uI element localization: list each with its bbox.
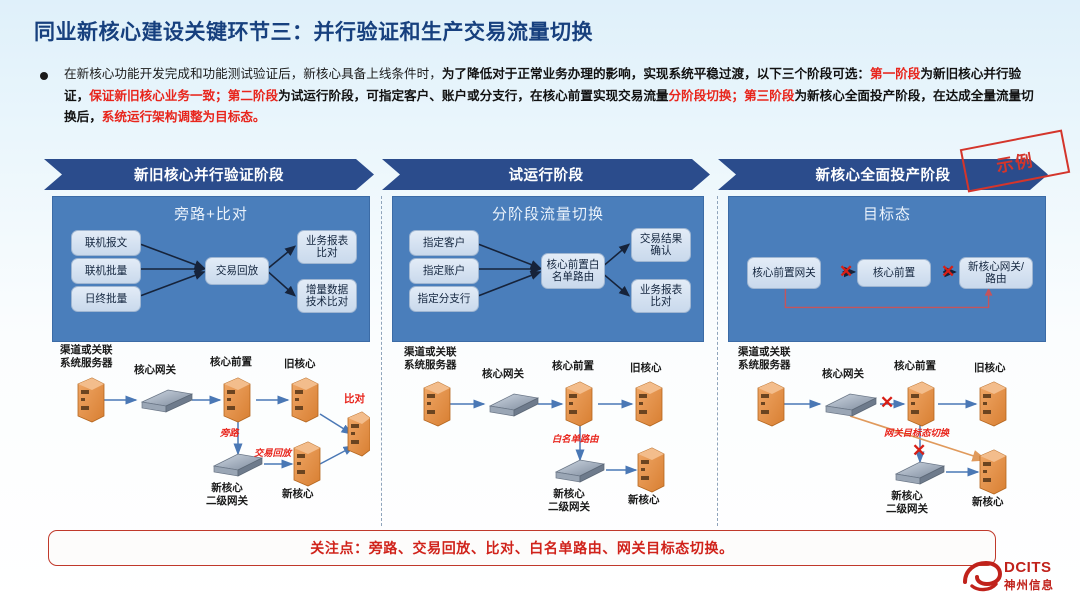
topology-3-oldcore-label: 旧核心 (974, 362, 1006, 375)
phase-1-topology: 渠道或关联系统服务器 核心网关 核心前置 旧核心 新核心二级网关 新核心 比对 … (52, 342, 370, 524)
topology-2-front-label: 核心前置 (552, 360, 594, 373)
bullet-seg-3: 第一阶段 (870, 67, 920, 81)
topology-1-gateway-label: 核心网关 (134, 364, 176, 377)
phase-1-input-2[interactable]: 联机批量 (71, 258, 141, 284)
server-icon (348, 412, 370, 456)
phase-2-input-2[interactable]: 指定账户 (409, 258, 479, 284)
gateway-icon (896, 462, 944, 484)
topology-2-source-label: 渠道或关联系统服务器 (404, 346, 457, 371)
topology-1-bypass-label: 旁路 (220, 428, 239, 439)
phase-1-flow-box: 旁路+比对 联机报文 联机批量 日终批量 交易回放 业务报表比对 增量数据技术比… (52, 196, 370, 342)
topology-1-newcore-label: 新核心 (282, 488, 314, 501)
topology-2-newcore-label: 新核心 (628, 494, 660, 507)
phase-1-middle[interactable]: 交易回放 (205, 257, 269, 285)
server-icon (980, 382, 1006, 426)
topology-3-x-icon-1: ✕ (880, 394, 894, 411)
column-separator-1 (381, 196, 382, 526)
logo-en: DCITS (1004, 559, 1054, 576)
topology-1-source-label: 渠道或关联系统服务器 (60, 344, 113, 369)
phase-3-topology: 渠道或关联系统服务器 核心网关 核心前置 旧核心 新核心二级网关 新核心 网关目… (728, 342, 1046, 524)
topology-3-source-label: 渠道或关联系统服务器 (738, 346, 791, 371)
phase-1-input-3[interactable]: 日终批量 (71, 286, 141, 312)
page-title: 同业新核心建设关键环节三：并行验证和生产交易流量切换 (34, 16, 593, 46)
bullet-seg-6: 第二阶段 (228, 89, 278, 103)
gateway-icon (826, 394, 876, 416)
server-icon (908, 382, 934, 426)
bullet-seg-1: 在新核心功能开发完成和功能测试验证后，新核心具备上线条件时， (64, 67, 442, 81)
bullet-seg-7: 为试运行阶段，可指定客户、账户或分支行，在核心前置实现交易流量 (278, 89, 668, 103)
bullet-paragraph: 在新核心功能开发完成和功能测试验证后，新核心具备上线条件时，为了降低对于正常业务… (36, 64, 1036, 129)
phase-2-topology: 渠道或关联系统服务器 核心网关 核心前置 旧核心 新核心二级网关 新核心 白名单… (392, 342, 704, 524)
phase-3-x-icon-2: ✕ (941, 263, 955, 280)
topology-3-newcore-label: 新核心 (972, 496, 1004, 509)
bullet-dot-icon (40, 72, 48, 80)
phase-2-input-1[interactable]: 指定客户 (409, 230, 479, 256)
server-icon (980, 450, 1006, 494)
bullet-seg-8: 分阶段切换； (669, 89, 745, 103)
topology-3-switch-label: 网关目标态切换 (884, 428, 949, 439)
phase-1-input-1[interactable]: 联机报文 (71, 230, 141, 256)
phase-2-middle[interactable]: 核心前置白名单路由 (541, 253, 605, 289)
topology-1-replay-label: 交易回放 (254, 448, 291, 459)
phase-1-panel: 旁路+比对 联机报文 联机批量 日终批量 交易回放 业务报表比对 增量数据技术比… (52, 196, 370, 524)
topology-2-oldcore-label: 旧核心 (630, 362, 662, 375)
server-icon (78, 378, 104, 422)
server-icon (424, 382, 450, 426)
topology-1-newgw-label: 新核心二级网关 (206, 482, 248, 507)
stamp-label: 示例 (994, 145, 1036, 176)
phase-1-output-2[interactable]: 增量数据技术比对 (297, 279, 357, 313)
topology-2-newgw-label: 新核心二级网关 (548, 488, 590, 513)
server-icon (294, 442, 320, 486)
gateway-icon (142, 390, 192, 412)
phase-3-flow-box: 目标态 核心前置网关 核心前置 新核心网关/路由 ✕ ✕ (728, 196, 1046, 342)
bullet-text: 在新核心功能开发完成和功能测试验证后，新核心具备上线条件时，为了降低对于正常业务… (64, 64, 1036, 129)
brand-logo: DCITS 神州信息 (962, 558, 1074, 600)
phase-1-output-1[interactable]: 业务报表比对 (297, 230, 357, 264)
gateway-icon (556, 460, 604, 482)
bullet-seg-11: 系统运行架构调整为目标态。 (102, 110, 266, 124)
server-icon (758, 382, 784, 426)
topology-3-newgw-label: 新核心二级网关 (886, 490, 928, 515)
bullet-seg-2: 为了降低对于正常业务办理的影响，实现系统平稳过渡，以下三个阶段可选： (442, 67, 870, 81)
topology-1-front-label: 核心前置 (210, 356, 252, 369)
phase-2-flow-box: 分阶段流量切换 指定客户 指定账户 指定分支行 核心前置白名单路由 交易结果确认… (392, 196, 704, 342)
phase-2-output-2[interactable]: 业务报表比对 (631, 279, 691, 313)
phase-2-output-1[interactable]: 交易结果确认 (631, 228, 691, 262)
phase-3-panel: 目标态 核心前置网关 核心前置 新核心网关/路由 ✕ ✕ (728, 196, 1046, 524)
phase-2-input-3[interactable]: 指定分支行 (409, 286, 479, 312)
column-separator-2 (717, 196, 718, 526)
logo-cn: 神州信息 (1004, 577, 1054, 593)
server-icon (566, 382, 592, 426)
phase-3-node-3[interactable]: 新核心网关/路由 (959, 257, 1033, 289)
phase-banner-1[interactable]: 新旧核心并行验证阶段 (44, 159, 374, 190)
bullet-seg-5: 保证新旧核心业务一致； (89, 89, 228, 103)
phase-3-x-icon-1: ✕ (839, 263, 853, 280)
topology-2-gateway-label: 核心网关 (482, 368, 524, 381)
server-icon (224, 378, 250, 422)
topology-1-oldcore-label: 旧核心 (284, 358, 316, 371)
server-icon (636, 382, 662, 426)
topology-2-whitelist-label: 白名单路由 (552, 434, 598, 445)
server-icon (638, 448, 664, 492)
phase-3-node-2[interactable]: 核心前置 (857, 259, 931, 287)
phase-2-panel: 分阶段流量切换 指定客户 指定账户 指定分支行 核心前置白名单路由 交易结果确认… (392, 196, 704, 524)
dcits-mark-icon (962, 560, 1002, 594)
example-stamp: 示例 (960, 129, 1070, 192)
phase-banner-2[interactable]: 试运行阶段 (382, 159, 710, 190)
footer-note: 关注点：旁路、交易回放、比对、白名单路由、网关目标态切换。 (48, 530, 996, 566)
gateway-icon (490, 394, 538, 416)
bullet-seg-9: 第三阶段 (744, 89, 794, 103)
server-icon (292, 378, 318, 422)
phase-3-node-1[interactable]: 核心前置网关 (747, 257, 821, 289)
topology-1-compare-label: 比对 (344, 394, 365, 405)
topology-3-front-label: 核心前置 (894, 360, 936, 373)
topology-3-x-icon-2: ✕ (912, 442, 926, 459)
topology-3-gateway-label: 核心网关 (822, 368, 864, 381)
